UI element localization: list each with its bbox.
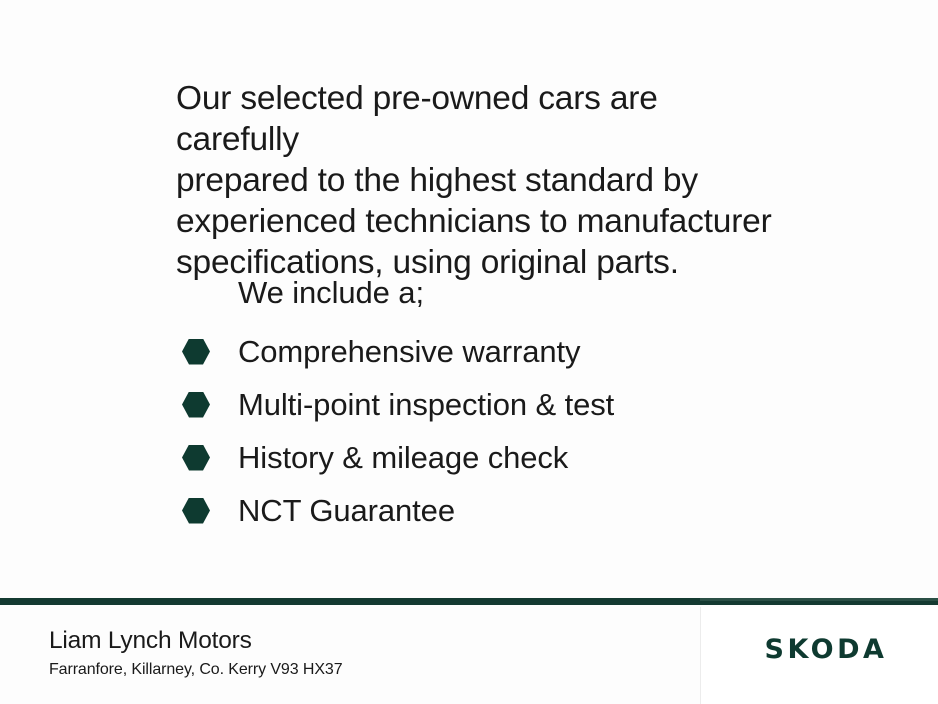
list-item-label: Multi-point inspection & test: [238, 387, 614, 423]
benefits-list: Comprehensive warranty Multi-point inspe…: [182, 325, 822, 537]
page-title: Our selected pre-owned cars are carefull…: [176, 78, 786, 283]
dealer-info: Liam Lynch Motors Farranfore, Killarney,…: [49, 626, 343, 680]
dealer-address: Farranfore, Killarney, Co. Kerry V93 HX3…: [49, 660, 343, 680]
footer-divider-accent: [700, 598, 938, 601]
brand-logo-panel: SKODA: [700, 607, 938, 704]
include-intro-text: We include a;: [238, 273, 424, 313]
skoda-logo: SKODA: [765, 634, 888, 665]
hexagon-bullet-icon: [182, 445, 210, 471]
hexagon-bullet-icon: [182, 392, 210, 418]
hexagon-bullet-icon: [182, 498, 210, 524]
slide-content: Our selected pre-owned cars are carefull…: [0, 0, 938, 598]
dealer-name: Liam Lynch Motors: [49, 626, 343, 655]
list-item: History & mileage check: [182, 431, 822, 484]
hexagon-bullet-icon: [182, 339, 210, 365]
list-item: NCT Guarantee: [182, 484, 822, 537]
list-item: Comprehensive warranty: [182, 325, 822, 378]
list-item-label: Comprehensive warranty: [238, 334, 580, 370]
list-item-label: NCT Guarantee: [238, 493, 455, 529]
footer: Liam Lynch Motors Farranfore, Killarney,…: [0, 598, 938, 704]
list-item: Multi-point inspection & test: [182, 378, 822, 431]
list-item-label: History & mileage check: [238, 440, 568, 476]
